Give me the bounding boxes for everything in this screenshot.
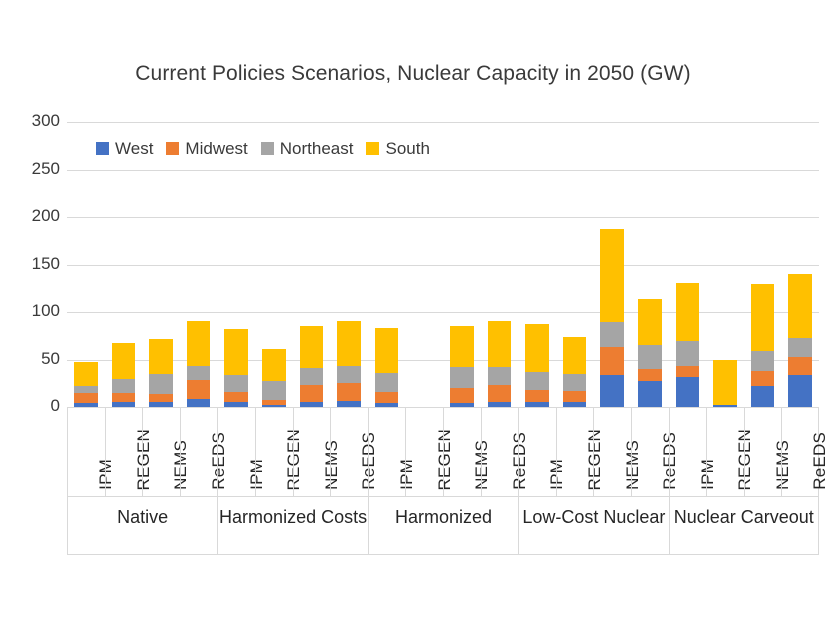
- bar-segment-midwest: [638, 369, 662, 381]
- bar-segment-northeast: [74, 386, 98, 393]
- category-tick-cell: NEMS: [443, 407, 481, 497]
- bar-segment-south: [337, 321, 361, 367]
- y-axis-tick-labels: 050100150200250300: [0, 122, 60, 407]
- bar-segment-northeast: [450, 367, 474, 388]
- bar-segment-south: [112, 343, 136, 378]
- group-axis-label: Harmonized: [368, 497, 518, 555]
- bar-segment-northeast: [676, 341, 700, 366]
- bar-segment-south: [563, 337, 587, 374]
- bar-segment-south: [262, 349, 286, 381]
- bar-segment-northeast: [488, 367, 512, 385]
- bar-segment-south: [74, 362, 98, 386]
- category-tick-cell: REGEN: [105, 407, 143, 497]
- bar-segment-south: [149, 339, 173, 374]
- bar-segment-northeast: [300, 368, 324, 385]
- category-tick-cell: ReEDS: [330, 407, 368, 497]
- bar-segment-midwest: [563, 391, 587, 402]
- category-tick-cell: REGEN: [405, 407, 443, 497]
- bar-segment-northeast: [149, 374, 173, 394]
- bar-segment-midwest: [600, 347, 624, 375]
- bar-segment-midwest: [375, 392, 399, 403]
- bar-segment-south: [638, 299, 662, 346]
- y-axis-tick-label: 150: [6, 254, 60, 274]
- bar-segment-west: [788, 375, 812, 407]
- category-tick-cell: ReEDS: [781, 407, 819, 497]
- bar-segment-midwest: [187, 380, 211, 399]
- bar-segment-south: [788, 274, 812, 338]
- bar-segment-midwest: [788, 357, 812, 375]
- category-tick-cell: IPM: [217, 407, 255, 497]
- y-axis-tick-label: 100: [6, 301, 60, 321]
- bar-segment-south: [300, 326, 324, 368]
- bar-segment-south: [224, 329, 248, 375]
- category-tick-cell: NEMS: [744, 407, 782, 497]
- bar-segment-northeast: [112, 379, 136, 393]
- y-axis-tick-label: 0: [6, 396, 60, 416]
- bar-segment-west: [600, 375, 624, 407]
- bar-segment-south: [600, 229, 624, 322]
- bar-segment-midwest: [149, 394, 173, 403]
- bar-segment-west: [638, 381, 662, 407]
- group-axis-label: Harmonized Costs: [217, 497, 367, 555]
- chart-container: Current Policies Scenarios, Nuclear Capa…: [0, 0, 826, 620]
- group-axis-label: Native: [67, 497, 217, 555]
- bar-segment-northeast: [525, 372, 549, 390]
- bar-segment-northeast: [375, 373, 399, 392]
- bar-segment-midwest: [300, 385, 324, 402]
- y-axis-tick-label: 200: [6, 206, 60, 226]
- bar-segment-south: [751, 284, 775, 351]
- category-tick-cell: IPM: [669, 407, 707, 497]
- category-tick-cell: NEMS: [593, 407, 631, 497]
- category-tick-cell: IPM: [518, 407, 556, 497]
- bar-segment-south: [676, 283, 700, 342]
- bar-segment-south: [187, 321, 211, 367]
- category-tick-cell: ReEDS: [631, 407, 669, 497]
- category-tick-cell: IPM: [368, 407, 406, 497]
- bar-segment-south: [375, 328, 399, 373]
- bar-segment-midwest: [224, 392, 248, 402]
- category-tick-cell: IPM: [67, 407, 105, 497]
- chart-title: Current Policies Scenarios, Nuclear Capa…: [0, 62, 826, 86]
- category-tick-cell: NEMS: [293, 407, 331, 497]
- category-tick-cell: REGEN: [556, 407, 594, 497]
- bar-segment-northeast: [262, 381, 286, 400]
- bar-segment-west: [676, 377, 700, 407]
- bar-segment-northeast: [187, 366, 211, 380]
- bar-segment-midwest: [450, 388, 474, 403]
- category-axis: IPMREGENNEMSReEDSIPMREGENNEMSReEDSIPMREG…: [67, 407, 819, 555]
- bar-segment-northeast: [337, 366, 361, 383]
- bar-segment-midwest: [74, 393, 98, 403]
- bar-segment-south: [488, 321, 512, 368]
- y-axis-tick-label: 300: [6, 111, 60, 131]
- bar-segment-midwest: [488, 385, 512, 402]
- bar-segment-south: [713, 360, 737, 406]
- group-axis-label: Nuclear Carveout: [669, 497, 819, 555]
- category-tick-cell: REGEN: [706, 407, 744, 497]
- bars-layer: [67, 122, 819, 407]
- bar-segment-midwest: [751, 371, 775, 386]
- bar-segment-south: [525, 324, 549, 372]
- bar-segment-northeast: [563, 374, 587, 391]
- category-tick-cell: REGEN: [255, 407, 293, 497]
- bar-segment-northeast: [600, 322, 624, 347]
- bar-segment-south: [450, 326, 474, 367]
- y-axis-tick-label: 250: [6, 159, 60, 179]
- bar-segment-midwest: [112, 393, 136, 403]
- bar-segment-northeast: [224, 375, 248, 392]
- bar-segment-midwest: [525, 390, 549, 402]
- bar-segment-west: [187, 399, 211, 407]
- bar-segment-northeast: [751, 351, 775, 371]
- category-tick-cell: ReEDS: [481, 407, 519, 497]
- bar-segment-northeast: [788, 338, 812, 357]
- bar-segment-west: [751, 386, 775, 407]
- category-tick-cell: ReEDS: [180, 407, 218, 497]
- y-axis-tick-label: 50: [6, 349, 60, 369]
- bar-segment-midwest: [337, 383, 361, 401]
- bar-segment-midwest: [676, 366, 700, 376]
- category-tick-label: ReEDS: [810, 432, 826, 490]
- bar-segment-northeast: [638, 345, 662, 369]
- category-tick-cell: NEMS: [142, 407, 180, 497]
- group-axis-label: Low-Cost Nuclear: [518, 497, 668, 555]
